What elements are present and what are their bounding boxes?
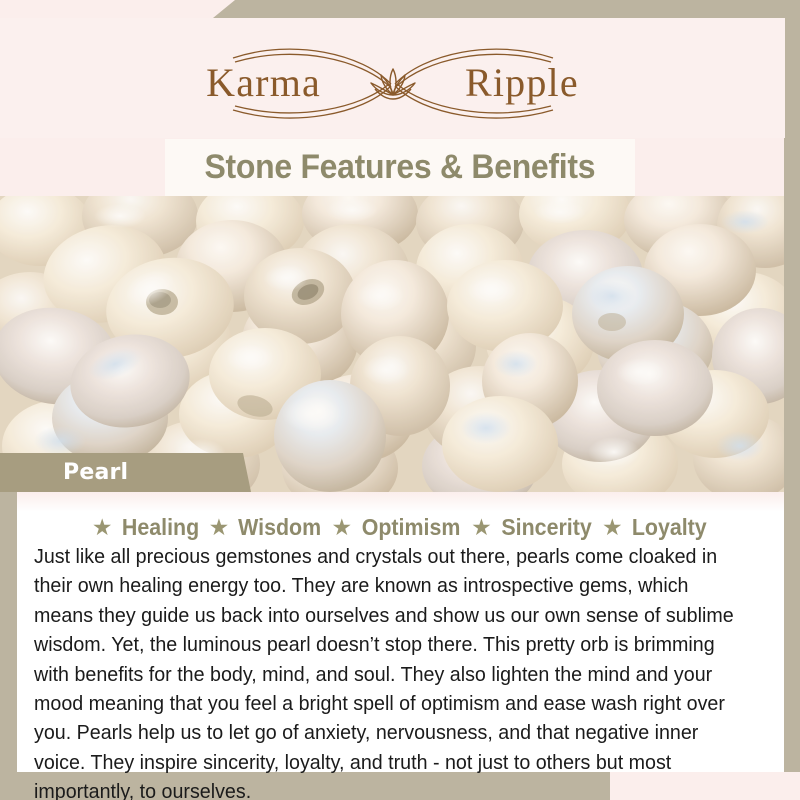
- benefit-label: Loyalty: [631, 514, 706, 541]
- star-icon: ★: [471, 516, 492, 539]
- benefit-item-loyalty: ★ Loyalty: [602, 514, 709, 541]
- benefit-label: Healing: [121, 514, 198, 541]
- infographic-page: Karma Ripple Stone Features & Benefits: [0, 0, 800, 800]
- title-band: Stone Features & Benefits: [165, 139, 635, 196]
- star-icon: ★: [331, 516, 352, 539]
- content-panel: ★ Healing ★ Wisdom ★ Optimism ★ Sincerit…: [17, 492, 784, 772]
- benefit-item-optimism: ★ Optimism: [331, 514, 464, 541]
- benefit-label: Wisdom: [238, 514, 321, 541]
- benefit-label: Optimism: [362, 514, 461, 541]
- frame-left-accent: [0, 492, 17, 800]
- logo-area: Karma Ripple: [0, 18, 785, 138]
- star-icon: ★: [92, 516, 113, 539]
- photo-caption-banner: Pearl: [0, 453, 251, 492]
- brand-logo[interactable]: Karma Ripple: [0, 38, 785, 128]
- pearl-photo-image: [0, 196, 784, 492]
- benefit-item-sincerity: ★ Sincerity: [471, 514, 595, 541]
- pearl-photo: [0, 196, 784, 492]
- page-title: Stone Features & Benefits: [205, 148, 596, 187]
- star-icon: ★: [209, 516, 230, 539]
- benefit-item-healing: ★ Healing: [92, 514, 202, 541]
- benefit-label: Sincerity: [501, 514, 591, 541]
- star-icon: ★: [602, 516, 623, 539]
- content-top-fade: [17, 492, 784, 512]
- brand-name-right: Ripple: [465, 63, 579, 103]
- benefit-item-wisdom: ★ Wisdom: [209, 514, 325, 541]
- brand-name-left: Karma: [206, 63, 321, 103]
- photo-caption-label: Pearl: [63, 460, 128, 485]
- description-paragraph: Just like all precious gemstones and cry…: [34, 542, 737, 800]
- frame-right-accent: [784, 0, 800, 782]
- frame-top-right-accent: [213, 0, 800, 18]
- benefits-list: ★ Healing ★ Wisdom ★ Optimism ★ Sincerit…: [17, 514, 784, 541]
- lotus-icon: [367, 63, 419, 103]
